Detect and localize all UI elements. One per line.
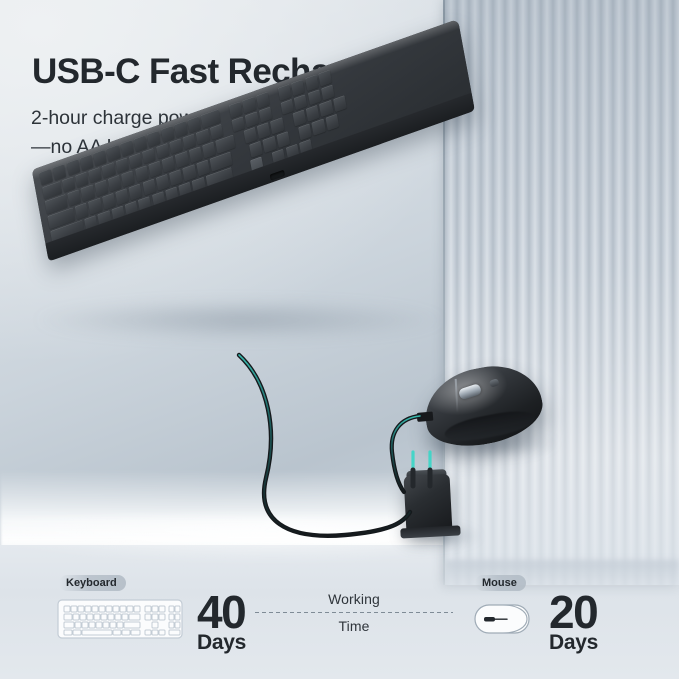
key	[306, 105, 320, 122]
key	[115, 157, 129, 174]
key	[245, 111, 259, 128]
key	[94, 180, 108, 197]
key	[162, 156, 176, 173]
key	[249, 141, 263, 158]
key	[294, 94, 308, 111]
fluted-panel	[445, 0, 679, 585]
key	[115, 188, 129, 205]
working-time-line1: Working	[328, 591, 380, 607]
key	[318, 70, 332, 87]
key	[292, 110, 306, 127]
key	[298, 123, 312, 140]
key-gap	[290, 128, 299, 143]
key	[61, 176, 75, 193]
stat-keyboard-unit: Days	[197, 633, 246, 652]
key	[53, 164, 67, 181]
key	[196, 129, 210, 146]
stat-mouse: Mouse 20 Days	[473, 591, 598, 653]
key	[257, 123, 271, 140]
key	[88, 198, 102, 215]
key	[276, 131, 290, 148]
key	[243, 127, 257, 144]
key	[280, 99, 294, 116]
stat-mouse-value-block: 20 Days	[549, 591, 598, 653]
stat-keyboard-label: Keyboard	[59, 575, 126, 591]
key	[258, 106, 272, 123]
stats-bar: Keyboard	[0, 569, 679, 679]
key	[121, 171, 135, 188]
key	[325, 114, 339, 131]
key-gap	[241, 146, 250, 161]
key	[202, 142, 216, 159]
key-gap	[284, 115, 293, 130]
key	[183, 133, 197, 150]
key	[242, 97, 256, 114]
key	[174, 121, 188, 138]
stat-mouse-label: Mouse	[475, 575, 526, 591]
mouse-usb-c-port	[417, 412, 434, 422]
key	[80, 154, 94, 171]
key	[169, 138, 183, 155]
key	[135, 166, 149, 183]
key	[263, 136, 277, 153]
key	[147, 130, 161, 147]
key	[67, 190, 81, 207]
key	[142, 148, 156, 165]
key	[209, 124, 223, 141]
key-gap	[223, 121, 232, 136]
keyboard-icon	[57, 599, 183, 644]
key-gap	[220, 106, 229, 121]
key	[229, 101, 243, 118]
key	[183, 164, 197, 181]
key	[196, 160, 210, 177]
mouse-icon	[473, 600, 535, 643]
key	[142, 179, 156, 196]
charger-brick	[404, 474, 453, 534]
product-feature-image: USB-C Fast Recharge 2-hour charge powers…	[0, 0, 679, 679]
key	[75, 171, 89, 188]
key	[39, 168, 53, 185]
key	[156, 143, 170, 160]
key	[156, 174, 170, 191]
key	[160, 126, 174, 143]
working-time-line2: Time	[339, 618, 370, 634]
key	[187, 116, 201, 133]
stat-keyboard: Keyboard	[57, 591, 246, 653]
key	[321, 84, 335, 101]
key	[169, 169, 183, 186]
key	[333, 96, 347, 113]
stat-keyboard-value-block: 40 Days	[197, 591, 246, 653]
key	[102, 193, 116, 210]
key	[120, 140, 134, 157]
key	[307, 89, 321, 106]
key-gap	[232, 149, 241, 164]
key	[81, 185, 95, 202]
key	[291, 79, 305, 96]
key	[129, 184, 143, 201]
key	[278, 84, 292, 101]
key	[189, 147, 203, 164]
stat-keyboard-value: 40	[197, 591, 246, 633]
key	[102, 162, 116, 179]
key	[305, 74, 319, 91]
key	[88, 167, 102, 184]
key	[66, 159, 80, 176]
key	[107, 145, 121, 162]
stat-mouse-value: 20	[549, 591, 598, 633]
key	[175, 152, 189, 169]
key	[270, 118, 284, 135]
key-gap	[272, 103, 281, 118]
key	[148, 161, 162, 178]
key	[93, 149, 107, 166]
panel-shading	[445, 0, 679, 585]
key	[75, 203, 89, 220]
key	[134, 135, 148, 152]
key	[256, 92, 270, 109]
divider-dashed-line	[255, 612, 453, 613]
key	[232, 116, 246, 133]
key	[319, 100, 333, 117]
working-time-divider: Working Time	[255, 591, 453, 634]
key-gap	[269, 89, 278, 104]
stat-mouse-unit: Days	[549, 633, 598, 652]
key-gap	[235, 132, 244, 147]
key	[129, 152, 143, 169]
key	[312, 119, 326, 136]
key	[108, 175, 122, 192]
